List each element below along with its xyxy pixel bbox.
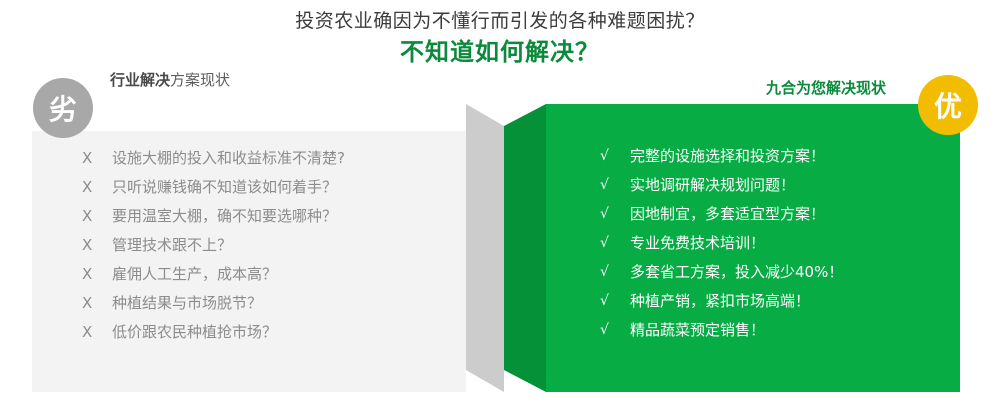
badge-superior: 优: [918, 75, 978, 135]
problems-panel-title-rest: 方案现状: [170, 71, 230, 89]
list-item-label: 种植产销，紧扣市场高端！: [630, 287, 810, 316]
list-item: X 只听说赚钱确不知道该如何着手？: [82, 173, 462, 202]
list-item-label: 完整的设施选择和投资方案！: [630, 142, 825, 171]
list-item-label: 只听说赚钱确不知道该如何着手？: [112, 173, 337, 202]
list-item-label: 管理技术跟不上？: [112, 231, 232, 260]
list-item: √ 实地调研解决规划问题！: [600, 171, 960, 200]
cross-icon: X: [82, 231, 112, 260]
list-item: √ 因地制宜，多套适宜型方案！: [600, 200, 960, 229]
list-item: X 种植结果与市场脱节？: [82, 289, 462, 318]
list-item: X 设施大棚的投入和收益标准不清楚?: [82, 144, 462, 173]
problems-list: X 设施大棚的投入和收益标准不清楚? X 只听说赚钱确不知道该如何着手？ X 要…: [82, 144, 462, 347]
check-icon: √: [600, 142, 630, 171]
headline-primary: 投资农业确因为不懂行而引发的各种难题困扰？: [0, 8, 1000, 34]
list-item-label: 因地制宜，多套适宜型方案！: [630, 200, 825, 229]
check-icon: √: [600, 171, 630, 200]
check-icon: √: [600, 200, 630, 229]
ribbon-fold-green: [504, 104, 546, 392]
list-item-label: 雇佣人工生产，成本高？: [112, 260, 277, 289]
badge-inferior: 劣: [33, 78, 93, 138]
list-item-label: 要用温室大棚，确不知要选哪种？: [112, 202, 337, 231]
list-item-label: 精品蔬菜预定销售！: [630, 316, 765, 345]
list-item: √ 专业免费技术培训！: [600, 229, 960, 258]
comparison-infographic: 投资农业确因为不懂行而引发的各种难题困扰？ 不知道如何解决？ 劣 优 行业解决方…: [0, 0, 1000, 416]
ribbon-fold-gray: [466, 104, 504, 392]
list-item: √ 多套省工方案，投入减少40%！: [600, 258, 960, 287]
badge-superior-label: 优: [934, 85, 962, 125]
problems-panel-title-strong: 行业解决: [110, 71, 170, 89]
list-item-label: 实地调研解决规划问题！: [630, 171, 795, 200]
list-item: X 低价跟农民种植抢市场？: [82, 318, 462, 347]
list-item-label: 多套省工方案，投入减少40%！: [630, 258, 843, 287]
solutions-list: √ 完整的设施选择和投资方案！ √ 实地调研解决规划问题！ √ 因地制宜，多套适…: [600, 142, 960, 345]
cross-icon: X: [82, 202, 112, 231]
list-item: √ 完整的设施选择和投资方案！: [600, 142, 960, 171]
list-item: √ 种植产销，紧扣市场高端！: [600, 287, 960, 316]
solutions-panel-title: 九合为您解决现状: [766, 78, 886, 98]
list-item: √ 精品蔬菜预定销售！: [600, 316, 960, 345]
list-item: X 雇佣人工生产，成本高？: [82, 260, 462, 289]
badge-inferior-label: 劣: [49, 88, 77, 128]
check-icon: √: [600, 258, 630, 287]
cross-icon: X: [82, 318, 112, 347]
list-item-label: 设施大棚的投入和收益标准不清楚?: [112, 144, 345, 173]
list-item: X 管理技术跟不上？: [82, 231, 462, 260]
problems-panel-title: 行业解决方案现状: [110, 70, 230, 90]
check-icon: √: [600, 316, 630, 345]
cross-icon: X: [82, 173, 112, 202]
list-item: X 要用温室大棚，确不知要选哪种？: [82, 202, 462, 231]
check-icon: √: [600, 287, 630, 316]
headline-secondary: 不知道如何解决？: [0, 36, 1000, 68]
cross-icon: X: [82, 289, 112, 318]
headline-block: 投资农业确因为不懂行而引发的各种难题困扰？ 不知道如何解决？: [0, 8, 1000, 68]
list-item-label: 种植结果与市场脱节？: [112, 289, 262, 318]
list-item-label: 专业免费技术培训！: [630, 229, 765, 258]
list-item-label: 低价跟农民种植抢市场？: [112, 318, 277, 347]
check-icon: √: [600, 229, 630, 258]
cross-icon: X: [82, 144, 112, 173]
cross-icon: X: [82, 260, 112, 289]
